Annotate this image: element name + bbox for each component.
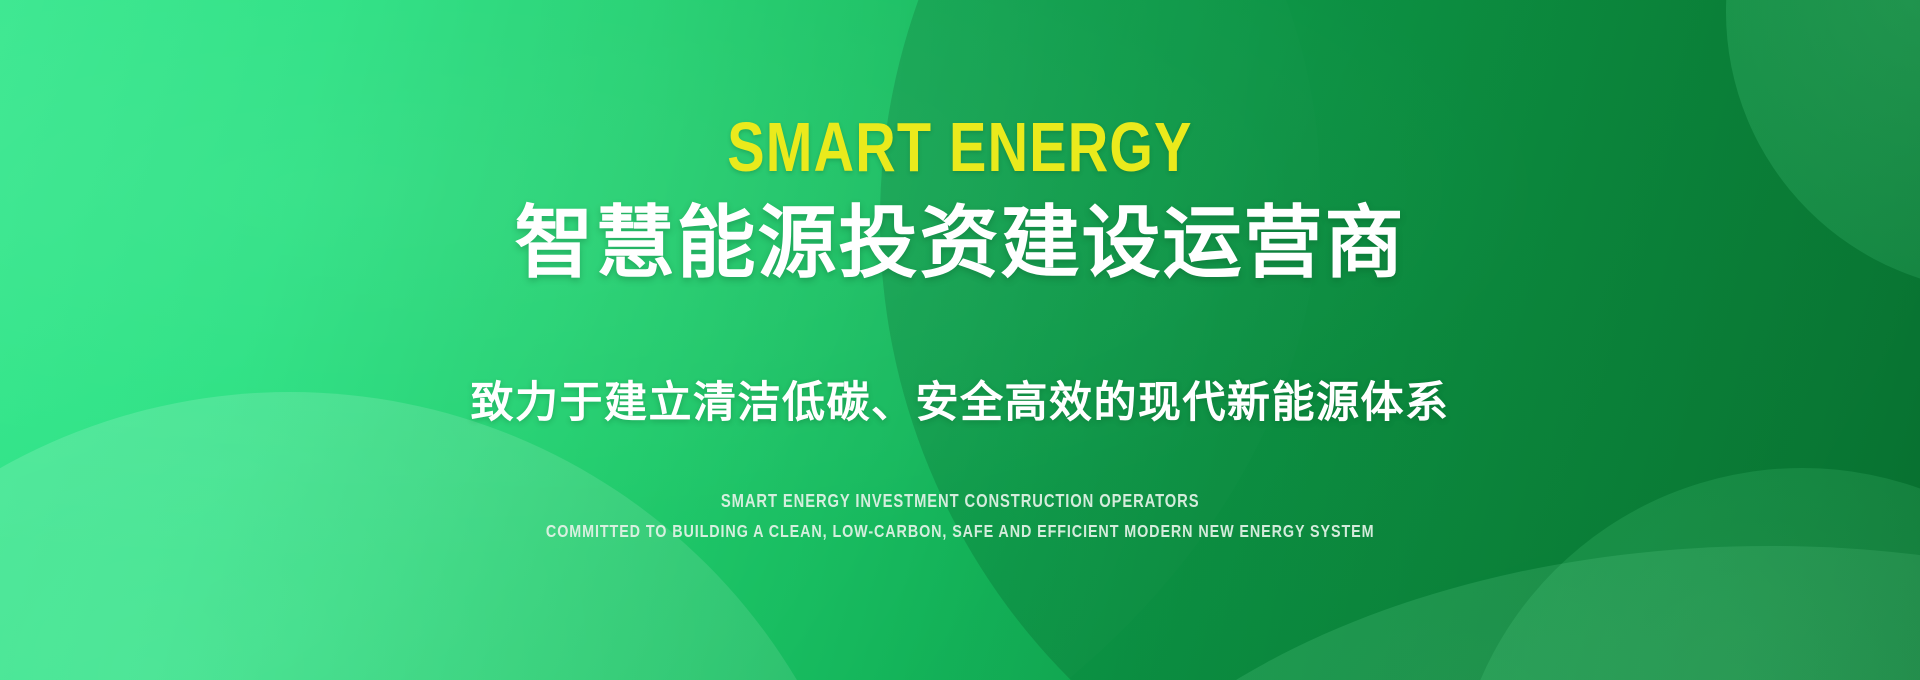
banner-tagline-line-1: SMART ENERGY INVESTMENT CONSTRUCTION OPE… bbox=[721, 491, 1200, 511]
banner-content: SMART ENERGY 智慧能源投资建设运营商 致力于建立清洁低碳、安全高效的… bbox=[0, 0, 1920, 680]
smart-energy-banner: SMART ENERGY 智慧能源投资建设运营商 致力于建立清洁低碳、安全高效的… bbox=[0, 0, 1920, 680]
banner-tagline-english: SMART ENERGY INVESTMENT CONSTRUCTION OPE… bbox=[546, 489, 1375, 544]
banner-tagline-line-2: COMMITTED TO BUILDING A CLEAN, LOW-CARBO… bbox=[546, 519, 1375, 544]
banner-subheadline-chinese: 致力于建立清洁低碳、安全高效的现代新能源体系 bbox=[471, 382, 1450, 425]
banner-eyebrow-english: SMART ENERGY bbox=[727, 112, 1193, 182]
banner-headline-chinese: 智慧能源投资建设运营商 bbox=[515, 204, 1406, 283]
